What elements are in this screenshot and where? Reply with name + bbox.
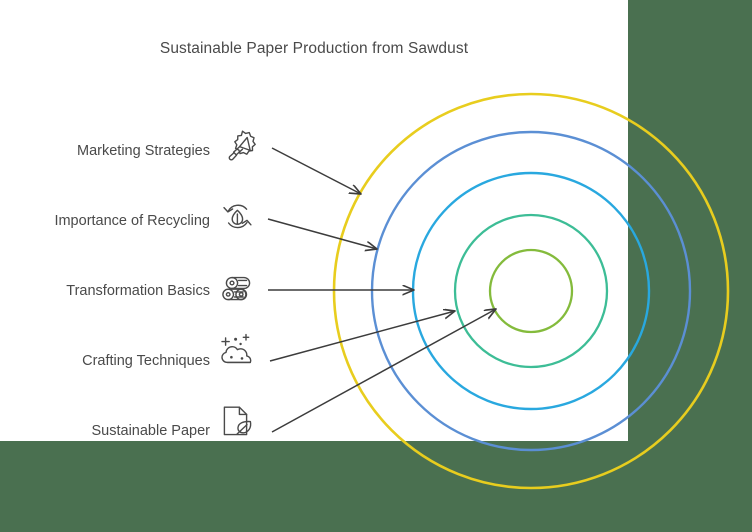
ring-teal (455, 215, 607, 367)
label-transformation-basics: Transformation Basics (66, 283, 210, 299)
ring-cyan (413, 173, 649, 409)
row-icons-group (222, 131, 255, 434)
label-sustainable-paper: Sustainable Paper (92, 423, 211, 439)
connector-arrows-group (268, 148, 496, 432)
arrow-crafting-techniques (270, 311, 455, 361)
logs-timber-icon (223, 278, 250, 300)
ring-outer-yellow (334, 94, 728, 488)
ring-inner-olive (490, 250, 572, 332)
label-crafting-techniques: Crafting Techniques (82, 353, 210, 369)
diagram-canvas: Sustainable Paper Production from Sawdus… (0, 0, 752, 532)
arrow-sustainable-paper (272, 309, 496, 432)
label-importance-of-recycling: Importance of Recycling (54, 213, 210, 229)
recycling-leaf-icon (224, 205, 251, 227)
concentric-rings-group (334, 94, 728, 488)
arrow-importance-of-recycling (268, 219, 377, 249)
ring-blue (372, 132, 690, 450)
paper-leaf-icon (224, 407, 250, 434)
arrow-marketing-strategies (272, 148, 361, 194)
megaphone-burst-icon (229, 131, 255, 160)
label-marketing-strategies: Marketing Strategies (77, 143, 210, 159)
sparkle-cloud-icon (222, 335, 251, 363)
diagram-vector-layer (0, 0, 752, 532)
